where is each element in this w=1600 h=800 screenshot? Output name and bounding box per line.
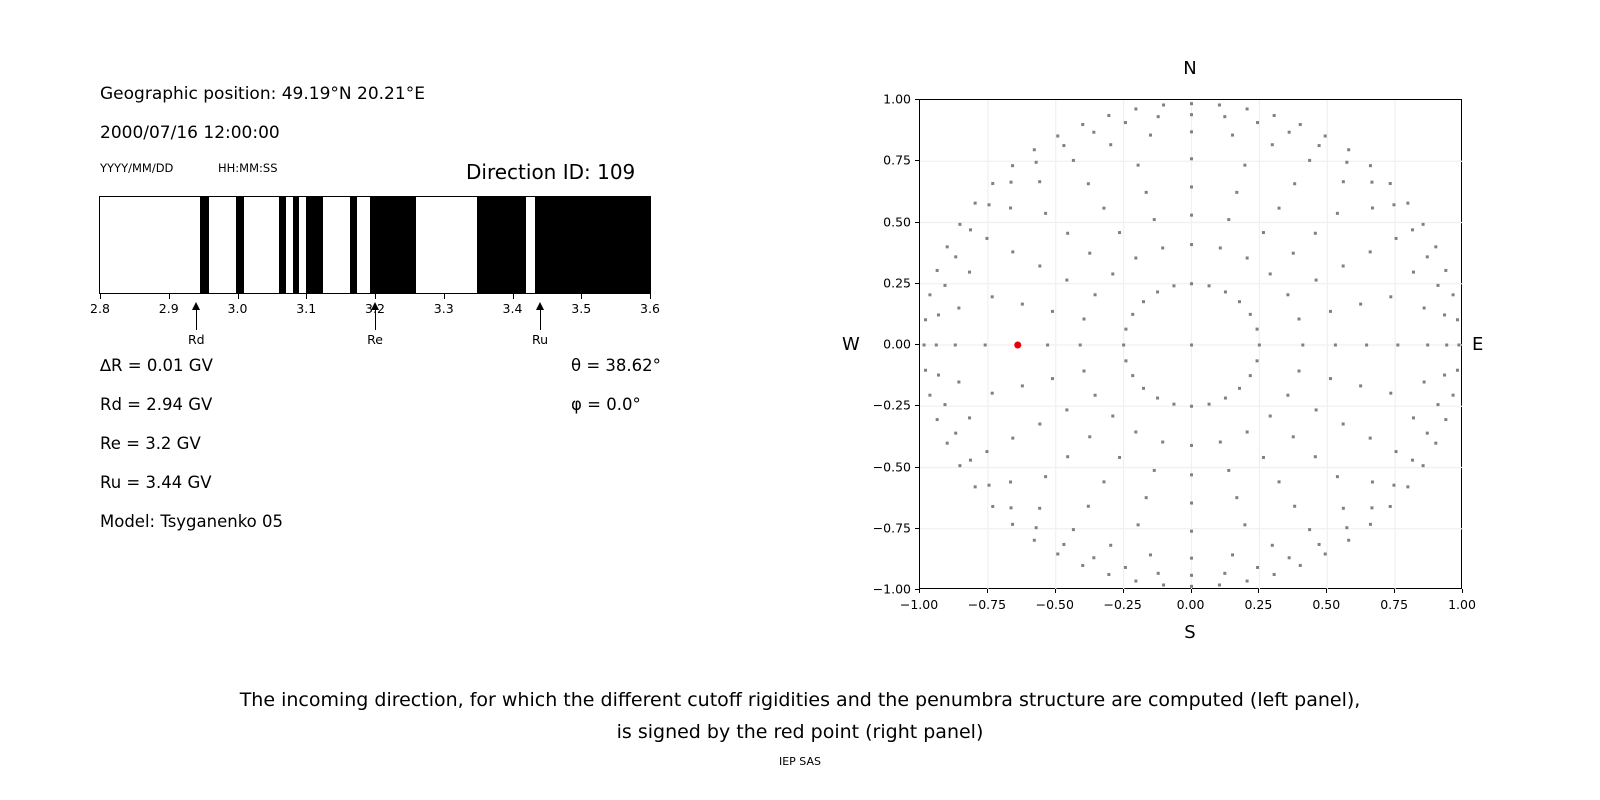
direction-point — [1235, 496, 1238, 499]
y-axis-tick — [915, 283, 919, 284]
penumbra-band — [535, 197, 651, 293]
direction-point — [937, 313, 940, 316]
rigidity-tick-label: 3.5 — [571, 301, 591, 316]
direction-point — [1345, 526, 1348, 529]
direction-point — [1066, 232, 1069, 235]
direction-point — [1422, 464, 1425, 467]
direction-point — [1072, 528, 1075, 531]
y-axis-tick — [915, 405, 919, 406]
x-axis-tick — [1394, 589, 1395, 593]
arrow-shaft — [375, 306, 376, 330]
direction-point — [1142, 387, 1145, 390]
direction-point — [1156, 397, 1159, 400]
direction-point — [1423, 381, 1426, 384]
direction-point — [1190, 473, 1193, 476]
direction-point — [1011, 250, 1014, 253]
re-value: Re = 3.2 GV — [100, 434, 201, 453]
rd-value: Rd = 2.94 GV — [100, 395, 212, 414]
direction-point — [1238, 300, 1241, 303]
penumbra-band — [293, 197, 299, 293]
direction-point — [1066, 455, 1069, 458]
direction-point — [1278, 207, 1281, 210]
direction-point — [1412, 271, 1415, 274]
penumbra-bar-chart — [99, 196, 651, 294]
direction-point — [1271, 544, 1274, 547]
direction-point — [1118, 231, 1121, 234]
cutoff-marker-label: Rd — [188, 332, 205, 347]
direction-point — [1246, 257, 1249, 260]
direction-point — [1208, 284, 1211, 287]
direction-point — [1269, 272, 1272, 275]
direction-point — [1065, 279, 1068, 282]
rigidity-tick-label: 2.9 — [159, 301, 179, 316]
direction-point — [1044, 475, 1047, 478]
penumbra-band — [477, 197, 527, 293]
arrow-shaft — [196, 306, 197, 330]
direction-point — [1011, 164, 1014, 167]
direction-point — [1246, 107, 1249, 110]
direction-point — [1190, 130, 1193, 133]
direction-point — [988, 484, 991, 487]
direction-point — [1190, 530, 1193, 533]
penumbra-forbidden-bands — [100, 197, 650, 293]
datetime-label: 2000/07/16 12:00:00 — [100, 123, 280, 143]
direction-point — [928, 394, 931, 397]
caption-line-2: is signed by the red point (right panel) — [0, 716, 1600, 748]
direction-point — [1111, 415, 1114, 418]
direction-point — [1258, 344, 1261, 347]
direction-map-panel: N S W E −1.00−0.75−0.50−0.250.000.250.50… — [800, 0, 1600, 660]
x-axis-tick — [987, 589, 988, 593]
direction-point — [946, 245, 949, 248]
direction-point — [1395, 237, 1398, 240]
direction-point — [1010, 506, 1013, 509]
direction-point — [1278, 480, 1281, 483]
direction-point — [1227, 469, 1230, 472]
footer-credit: IEP SAS — [0, 755, 1600, 768]
direction-point — [1273, 114, 1276, 117]
direction-point — [1157, 572, 1160, 575]
direction-point — [1161, 441, 1164, 444]
direction-point — [1370, 181, 1373, 184]
direction-point — [1124, 328, 1127, 331]
direction-point — [991, 295, 994, 298]
direction-point — [1046, 344, 1049, 347]
direction-point — [1011, 437, 1014, 440]
y-axis-tick-label: 1.00 — [883, 92, 911, 107]
direction-point — [1406, 485, 1409, 488]
rigidity-tick — [581, 294, 582, 299]
direction-point — [1224, 290, 1227, 293]
direction-point — [1082, 369, 1085, 372]
direction-point — [1190, 157, 1193, 160]
direction-point — [991, 392, 994, 395]
geographic-position-label: Geographic position: 49.19°N 20.21°E — [100, 84, 425, 104]
rigidity-tick — [238, 294, 239, 299]
direction-point — [1223, 572, 1226, 575]
rigidity-tick — [444, 294, 445, 299]
phi-value: φ = 0.0° — [571, 395, 641, 414]
rigidity-tick — [513, 294, 514, 299]
direction-point — [1156, 290, 1159, 293]
direction-point — [1124, 566, 1127, 569]
direction-point — [1134, 430, 1137, 433]
direction-point — [1223, 115, 1226, 118]
direction-point — [1111, 272, 1114, 275]
selected-direction-point[interactable] — [1014, 342, 1021, 349]
direction-point — [1369, 250, 1372, 253]
direction-point — [1288, 131, 1291, 134]
direction-point — [1456, 318, 1459, 321]
direction-point — [1315, 279, 1318, 282]
direction-point — [1456, 369, 1459, 372]
direction-point — [954, 255, 957, 258]
direction-point — [1406, 202, 1409, 205]
direction-point — [1094, 394, 1097, 397]
direction-point — [1153, 469, 1156, 472]
direction-point — [1365, 344, 1368, 347]
direction-point — [969, 459, 972, 462]
direction-point — [924, 369, 927, 372]
direction-point — [1299, 564, 1302, 567]
direction-point — [1038, 507, 1041, 510]
direction-point — [984, 344, 987, 347]
direction-point — [1329, 310, 1332, 313]
direction-point — [1437, 284, 1440, 287]
rigidity-tick-label: 2.8 — [90, 301, 110, 316]
direction-point — [1347, 148, 1350, 151]
direction-point — [1371, 206, 1374, 209]
direction-point — [1107, 114, 1110, 117]
x-axis-tick-label: 0.00 — [1177, 597, 1205, 612]
direction-point — [1190, 574, 1193, 577]
direction-point — [1190, 282, 1193, 285]
direction-point — [1190, 557, 1193, 560]
direction-point — [1072, 159, 1075, 162]
direction-point — [1218, 103, 1221, 106]
direction-point — [1411, 228, 1414, 231]
direction-point — [1389, 505, 1392, 508]
direction-point — [1190, 185, 1193, 188]
direction-point — [1190, 585, 1193, 588]
direction-point — [928, 293, 931, 296]
direction-point — [1038, 264, 1041, 267]
cutoff-marker-label: Ru — [532, 332, 548, 347]
direction-point — [924, 318, 927, 321]
direction-point — [1243, 523, 1246, 526]
direction-point — [1021, 303, 1024, 306]
rigidity-tick-label: 3.3 — [434, 301, 454, 316]
direction-point — [1443, 313, 1446, 316]
direction-point — [1243, 164, 1246, 167]
y-axis-tick — [915, 467, 919, 468]
direction-point — [1246, 580, 1249, 583]
rigidity-tick-label: 3.6 — [640, 301, 660, 316]
direction-point — [1298, 369, 1301, 372]
direction-point — [985, 450, 988, 453]
x-axis-tick — [1055, 589, 1056, 593]
y-axis-tick-label: −1.00 — [873, 582, 911, 597]
direction-point — [1445, 344, 1448, 347]
direction-point — [1395, 450, 1398, 453]
direction-point — [988, 203, 991, 206]
direction-point — [1318, 144, 1321, 147]
direction-point — [1396, 344, 1399, 347]
direction-point — [969, 228, 972, 231]
direction-point — [1190, 344, 1193, 347]
direction-point — [1412, 416, 1415, 419]
direction-point — [1336, 475, 1339, 478]
direction-point — [1231, 553, 1234, 556]
direction-point — [1219, 246, 1222, 249]
direction-point — [1033, 148, 1036, 151]
direction-point — [1190, 405, 1193, 408]
direction-point — [943, 284, 946, 287]
direction-point — [1426, 344, 1429, 347]
direction-point — [1081, 123, 1084, 126]
direction-point — [1218, 584, 1221, 587]
direction-point — [954, 432, 957, 435]
direction-point — [1457, 344, 1460, 347]
direction-point — [1153, 218, 1156, 221]
direction-point — [958, 464, 961, 467]
direction-point — [991, 505, 994, 508]
direction-point — [1443, 374, 1446, 377]
y-axis-tick — [915, 222, 919, 223]
direction-point — [1122, 344, 1125, 347]
direction-point — [923, 344, 926, 347]
direction-point — [946, 442, 949, 445]
direction-point — [1256, 121, 1259, 124]
delta-r-value: ∆R = 0.01 GV — [100, 356, 213, 375]
direction-point — [1082, 318, 1085, 321]
x-axis-tick — [1123, 589, 1124, 593]
direction-point — [1190, 444, 1193, 447]
direction-point — [1426, 255, 1429, 258]
direction-point — [1371, 481, 1374, 484]
y-axis-tick — [915, 160, 919, 161]
direction-point — [1094, 293, 1097, 296]
y-axis-tick — [915, 344, 919, 345]
direction-point — [1444, 418, 1447, 421]
x-axis-tick-label: 1.00 — [1448, 597, 1476, 612]
direction-point — [1009, 481, 1012, 484]
direction-map-plot-area — [919, 99, 1462, 589]
x-axis-tick-label: 0.50 — [1312, 597, 1340, 612]
direction-point — [1452, 394, 1455, 397]
direction-point — [1190, 243, 1193, 246]
direction-point — [954, 344, 957, 347]
penumbra-band — [200, 197, 209, 293]
rigidity-tick-label: 3.1 — [296, 301, 316, 316]
direction-point — [1087, 505, 1090, 508]
direction-point — [1423, 306, 1426, 309]
penumbra-band — [370, 197, 417, 293]
direction-point — [1062, 543, 1065, 546]
direction-point — [1369, 164, 1372, 167]
direction-point — [1172, 403, 1175, 406]
direction-point — [1011, 523, 1014, 526]
direction-point — [1038, 423, 1041, 426]
direction-point — [1437, 403, 1440, 406]
caption-line-1: The incoming direction, for which the di… — [0, 684, 1600, 716]
x-axis-tick-label: 0.75 — [1380, 597, 1408, 612]
theta-value: θ = 38.62° — [571, 356, 661, 375]
direction-point — [1389, 182, 1392, 185]
direction-point — [1021, 384, 1024, 387]
direction-point — [1010, 181, 1013, 184]
direction-point — [1334, 344, 1337, 347]
direction-point — [1033, 539, 1036, 542]
direction-point — [1301, 344, 1304, 347]
x-axis-tick-label: −1.00 — [900, 597, 938, 612]
direction-point — [1324, 552, 1327, 555]
direction-point — [1092, 556, 1095, 559]
direction-point — [1102, 207, 1105, 210]
direction-point — [958, 223, 961, 226]
direction-point — [1149, 553, 1152, 556]
direction-point — [1190, 214, 1193, 217]
direction-point — [1273, 573, 1276, 576]
direction-point — [1190, 102, 1193, 105]
model-value: Model: Tsyganenko 05 — [100, 512, 283, 531]
direction-point — [1051, 310, 1054, 313]
direction-point — [1359, 303, 1362, 306]
direction-point — [1157, 115, 1160, 118]
direction-point — [935, 344, 938, 347]
direction-point — [1292, 252, 1295, 255]
compass-north-label: N — [1183, 58, 1196, 79]
y-axis-tick-label: 0.00 — [883, 337, 911, 352]
direction-point — [1238, 387, 1241, 390]
y-axis-tick-label: 0.25 — [883, 275, 911, 290]
direction-point — [1056, 135, 1059, 138]
direction-point — [1161, 246, 1164, 249]
direction-point — [1286, 394, 1289, 397]
direction-point — [1035, 526, 1038, 529]
direction-point — [1292, 435, 1295, 438]
direction-point — [1256, 359, 1259, 362]
direction-point — [1190, 113, 1193, 116]
rigidity-tick-label: 3.4 — [503, 301, 523, 316]
direction-point — [1162, 103, 1165, 106]
direction-point — [968, 416, 971, 419]
direction-point — [1308, 528, 1311, 531]
direction-point — [1369, 523, 1372, 526]
direction-point — [1134, 580, 1137, 583]
direction-point — [1314, 455, 1317, 458]
direction-point — [1444, 269, 1447, 272]
direction-point — [1137, 523, 1140, 526]
x-axis-tick — [1326, 589, 1327, 593]
direction-point — [1149, 134, 1152, 137]
direction-point — [957, 381, 960, 384]
direction-point — [1293, 182, 1296, 185]
compass-west-label: W — [842, 334, 860, 355]
direction-point — [1269, 415, 1272, 418]
date-format-hint: YYYY/MM/DD — [100, 161, 173, 175]
rigidity-tick — [375, 294, 376, 299]
direction-scatter-svg — [920, 100, 1463, 590]
direction-point — [1056, 552, 1059, 555]
direction-point — [1336, 212, 1339, 215]
direction-point — [1231, 134, 1234, 137]
direction-point — [1370, 506, 1373, 509]
direction-point — [1411, 459, 1414, 462]
direction-point — [936, 418, 939, 421]
rigidity-tick-label: 3.0 — [228, 301, 248, 316]
direction-point — [1224, 397, 1227, 400]
ru-value: Ru = 3.44 GV — [100, 473, 212, 492]
figure-caption: The incoming direction, for which the di… — [0, 684, 1600, 748]
direction-point — [1262, 231, 1265, 234]
rigidity-tick — [169, 294, 170, 299]
direction-point — [1035, 161, 1038, 164]
direction-point — [1109, 143, 1112, 146]
direction-point — [1318, 543, 1321, 546]
direction-point — [1038, 180, 1041, 183]
x-axis-tick-label: −0.75 — [968, 597, 1006, 612]
direction-point — [1145, 191, 1148, 194]
direction-point — [1271, 143, 1274, 146]
direction-point — [1131, 374, 1134, 377]
direction-point — [937, 374, 940, 377]
direction-point — [1124, 359, 1127, 362]
direction-point — [1342, 423, 1345, 426]
direction-point — [1249, 374, 1252, 377]
direction-point — [957, 306, 960, 309]
direction-point — [1426, 432, 1429, 435]
direction-point — [1134, 257, 1137, 260]
direction-point — [1107, 573, 1110, 576]
penumbra-band — [350, 197, 358, 293]
y-axis-tick-label: 0.75 — [883, 153, 911, 168]
x-axis-tick — [1462, 589, 1463, 593]
penumbra-band — [236, 197, 244, 293]
time-format-hint: HH:MM:SS — [218, 161, 278, 175]
direction-point — [1359, 384, 1362, 387]
direction-point — [974, 202, 977, 205]
direction-point — [1329, 377, 1332, 380]
penumbra-band — [306, 197, 323, 293]
direction-id-label: Direction ID: 109 — [466, 160, 635, 184]
direction-point — [1208, 403, 1211, 406]
direction-point — [1145, 496, 1148, 499]
direction-point — [1235, 191, 1238, 194]
direction-point — [1345, 161, 1348, 164]
direction-point — [1434, 245, 1437, 248]
direction-point — [968, 271, 971, 274]
direction-point — [1088, 435, 1091, 438]
y-axis-tick — [915, 528, 919, 529]
x-axis-tick-label: 0.25 — [1244, 597, 1272, 612]
x-axis-tick — [1191, 589, 1192, 593]
x-axis-tick-label: −0.50 — [1036, 597, 1074, 612]
direction-point — [1298, 318, 1301, 321]
cutoff-marker-label: Re — [367, 332, 383, 347]
direction-point — [1422, 223, 1425, 226]
direction-point — [1452, 293, 1455, 296]
direction-point — [1389, 295, 1392, 298]
y-axis-tick-label: −0.25 — [873, 398, 911, 413]
direction-point — [1109, 544, 1112, 547]
direction-point — [1293, 505, 1296, 508]
direction-point — [1249, 313, 1252, 316]
direction-point — [1081, 564, 1084, 567]
y-axis-tick — [915, 589, 919, 590]
compass-south-label: S — [1184, 622, 1195, 643]
direction-point — [1434, 442, 1437, 445]
